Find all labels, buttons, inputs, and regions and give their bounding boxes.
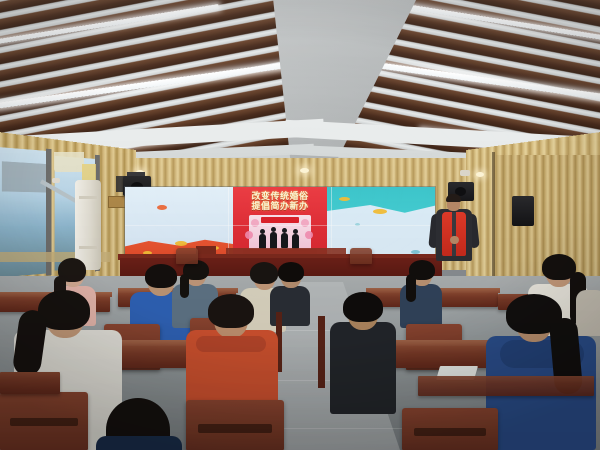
downlight [300,168,309,173]
screen-figure [281,233,288,248]
screen-figure [270,232,277,249]
ceiling [0,0,600,168]
chair [402,408,498,450]
screen-cloud-shape [157,205,167,210]
attendee-ponytail [180,274,189,298]
chair [176,248,198,264]
chair-slot [414,428,486,436]
wall-corner-seam [492,152,495,292]
desk [0,372,60,394]
air-conditioner-vent [79,246,97,249]
attendee-hair [343,292,383,322]
attendee-hair [278,262,304,282]
screen-headline-line1: 改变传统婚俗 [237,191,323,201]
wall-plaque [108,196,126,208]
desk-leg [318,316,325,388]
air-conditioner-vent [79,196,97,199]
presenter-vest-opening [452,212,456,256]
attendee-ponytail [406,274,416,302]
screen-headline-line2: 提倡简办新办 [237,201,323,211]
camera-icon [460,170,470,176]
screen-flower-icon [245,231,253,239]
attendee-body [96,436,182,450]
photograph-scene: 改变传统婚俗 提倡简办新办 [0,0,600,450]
camera-icon [52,178,60,183]
downlight [476,172,484,177]
desk [418,376,594,396]
attendee-body [330,322,396,414]
screen-figure [292,234,299,249]
chair [0,392,88,450]
air-conditioner-unit [75,180,101,270]
chair [186,400,284,450]
screen-cloud-shape [175,241,187,246]
screen-cloud-shape [339,197,350,201]
screen-headline: 改变传统婚俗 提倡简办新办 [237,191,323,211]
screen-figure [259,234,266,249]
chair-slot [10,418,78,426]
attendee-hood [196,336,266,352]
chair [350,248,372,264]
chair-slot [198,424,272,433]
wall-speaker-far-right [512,196,534,226]
building-outside [2,161,48,192]
attendee-hair [145,264,177,288]
screen-flower-icon [305,231,313,239]
presenter-hair [446,194,461,202]
attendee-hair [208,294,254,328]
screen-illustration-banner [261,217,299,223]
window-blind [54,152,84,172]
screen-seam [125,225,435,226]
attendee-hair [250,262,278,284]
attendee-body [576,290,600,336]
presenter-hand [450,236,459,244]
screen-cloud-shape [373,209,387,214]
